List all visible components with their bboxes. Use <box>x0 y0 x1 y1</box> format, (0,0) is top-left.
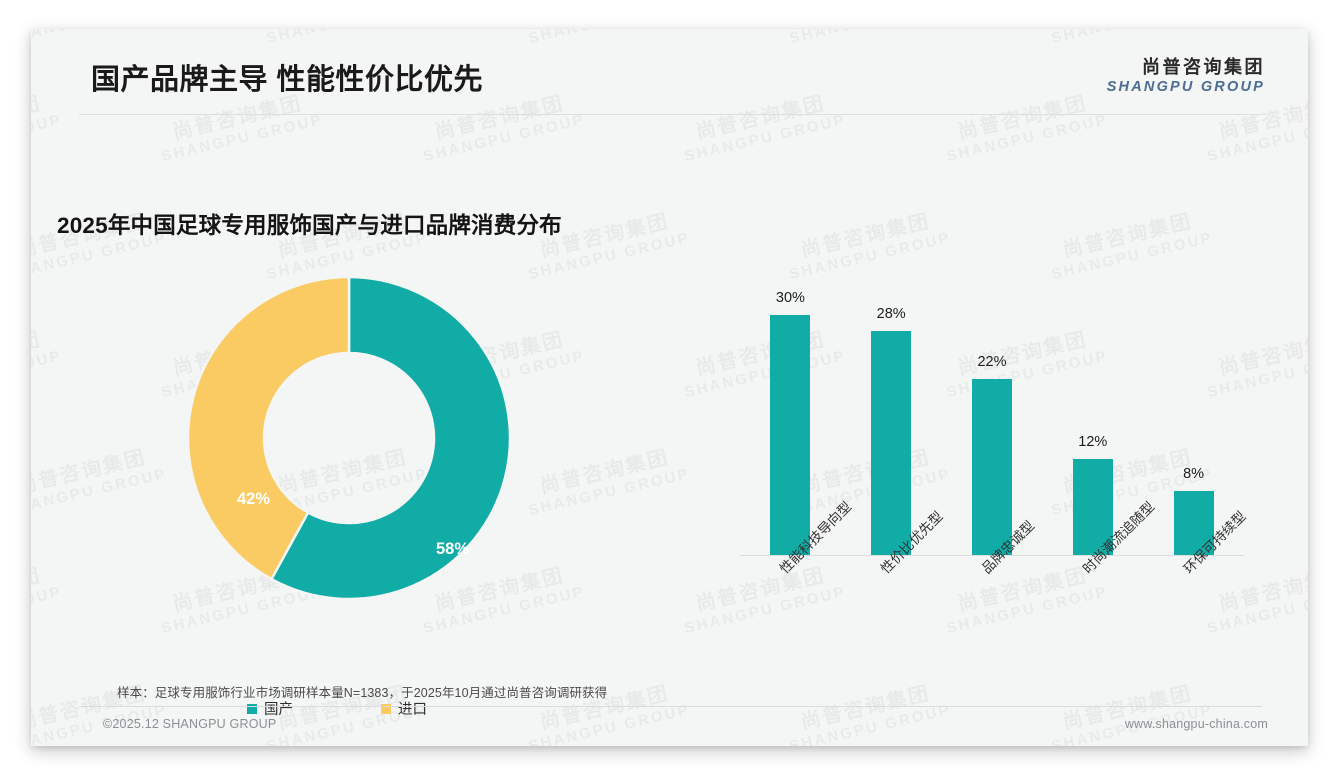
slide-wrapper: 尚普咨询集团SHANGPU GROUP尚普咨询集团SHANGPU GROUP尚普… <box>0 0 1340 780</box>
bar-value-label: 30% <box>776 290 805 306</box>
charts-region: 2025年中国足球专用服饰国产与进口品牌消费分布 58% 42% 国产 进口 <box>31 115 1308 655</box>
bar-value-label: 12% <box>1078 434 1107 450</box>
bar-rect[interactable] <box>972 379 1012 555</box>
copyright-text: ©2025.12 SHANGPU GROUP <box>103 717 276 731</box>
bar-chart-panel: 2025年中国足球专用服饰品牌偏好类型分布 30%28%22%12%8% 性能科… <box>668 115 1308 655</box>
bar-chart-plot-area: 30%28%22%12%8% <box>740 275 1244 555</box>
sample-footnote: 样本：足球专用服饰行业市场调研样本量N=1383，于2025年10月通过尚普咨询… <box>117 682 607 701</box>
slide-header: 国产品牌主导 性能性价比优先 尚普咨询集团 SHANGPU GROUP <box>31 29 1308 115</box>
logo-chinese-text: 尚普咨询集团 <box>1107 57 1265 78</box>
bar-value-label: 28% <box>877 306 906 322</box>
slide-card: 尚普咨询集团SHANGPU GROUP尚普咨询集团SHANGPU GROUP尚普… <box>31 29 1308 746</box>
bar-rect[interactable] <box>770 315 810 555</box>
page-title: 国产品牌主导 性能性价比优先 <box>91 56 483 98</box>
logo-english-text: SHANGPU GROUP <box>1107 78 1265 96</box>
bar-value-label: 8% <box>1183 466 1204 482</box>
slide-footer: ©2025.12 SHANGPU GROUP www.shangpu-china… <box>31 706 1308 746</box>
bar-rect[interactable] <box>871 331 911 555</box>
donut-slice-label-guochan: 58% <box>436 540 469 559</box>
bar-column[interactable]: 22% <box>942 275 1043 555</box>
donut-slice-label-jinkou: 42% <box>237 490 270 509</box>
donut-chart-title: 2025年中国足球专用服饰国产与进口品牌消费分布 <box>57 208 562 240</box>
donut-chart-panel: 2025年中国足球专用服饰国产与进口品牌消费分布 58% 42% 国产 进口 <box>31 115 668 655</box>
header-divider <box>79 114 1262 115</box>
brand-logo: 尚普咨询集团 SHANGPU GROUP <box>1107 57 1265 96</box>
bar-value-label: 22% <box>977 354 1006 370</box>
website-url[interactable]: www.shangpu-china.com <box>1125 717 1268 731</box>
